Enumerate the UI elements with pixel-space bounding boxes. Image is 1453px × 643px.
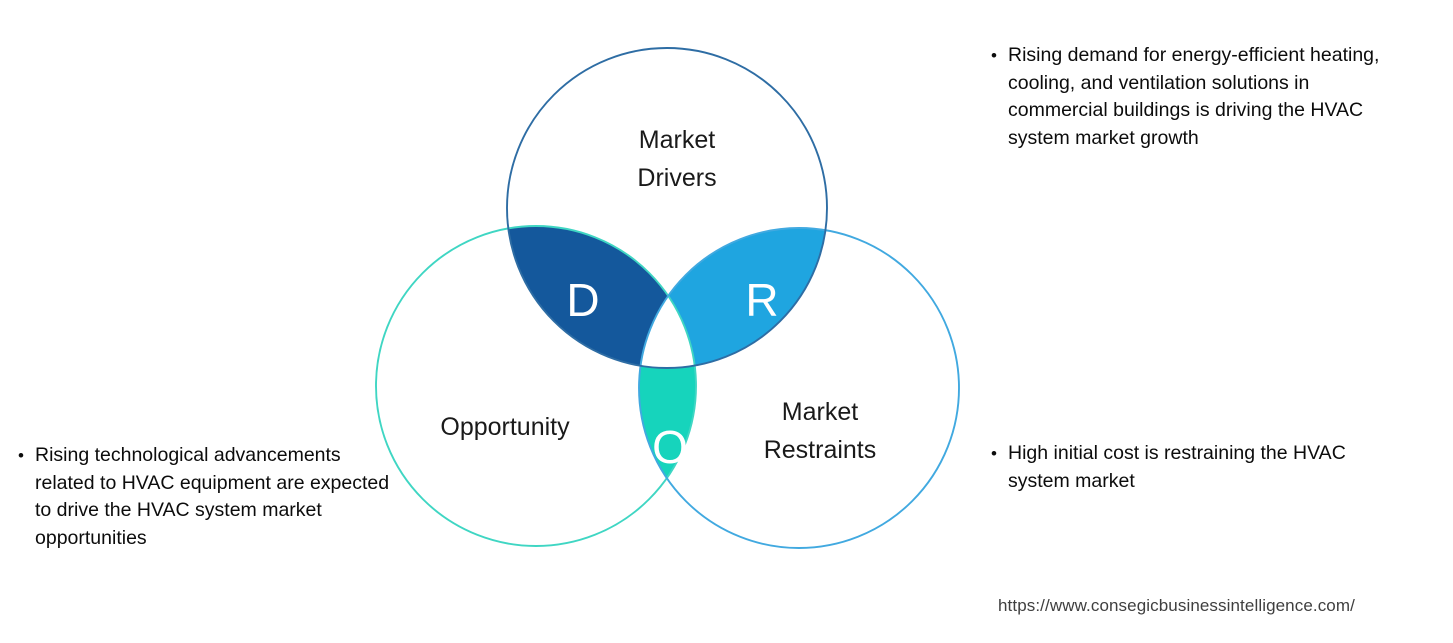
venn-letter-d: D xyxy=(566,274,599,326)
venn-letter-r: R xyxy=(745,274,778,326)
venn-overlap-d xyxy=(340,20,980,580)
bullet-market-drivers: • Rising demand for energy-efficient hea… xyxy=(991,42,1411,152)
bullet-marker-icon: • xyxy=(991,42,1008,70)
venn-label-restraints-line1: Market xyxy=(782,398,858,426)
bullet-marker-icon: • xyxy=(18,442,35,470)
bullet-market-drivers-text: Rising demand for energy-efficient heati… xyxy=(1008,42,1411,152)
venn-diagram: Market Drivers Opportunity Market Restra… xyxy=(340,20,980,580)
bullet-market-restraints: • High initial cost is restraining the H… xyxy=(991,440,1391,495)
bullet-marker-icon: • xyxy=(991,440,1008,468)
venn-label-restraints-line2: Restraints xyxy=(764,436,877,464)
venn-label-drivers-line1: Market xyxy=(639,126,715,154)
venn-diagram-svg: Market Drivers Opportunity Market Restra… xyxy=(340,20,980,580)
venn-label-drivers-line2: Drivers xyxy=(637,164,716,192)
source-url[interactable]: https://www.consegicbusinessintelligence… xyxy=(998,596,1355,616)
bullet-opportunity: • Rising technological advancements rela… xyxy=(18,442,398,552)
venn-label-opportunity: Opportunity xyxy=(440,413,570,441)
venn-letter-o: O xyxy=(652,421,688,473)
slide-canvas: Market Drivers Opportunity Market Restra… xyxy=(0,0,1453,643)
bullet-market-restraints-text: High initial cost is restraining the HVA… xyxy=(1008,440,1391,495)
bullet-opportunity-text: Rising technological advancements relate… xyxy=(35,442,398,552)
